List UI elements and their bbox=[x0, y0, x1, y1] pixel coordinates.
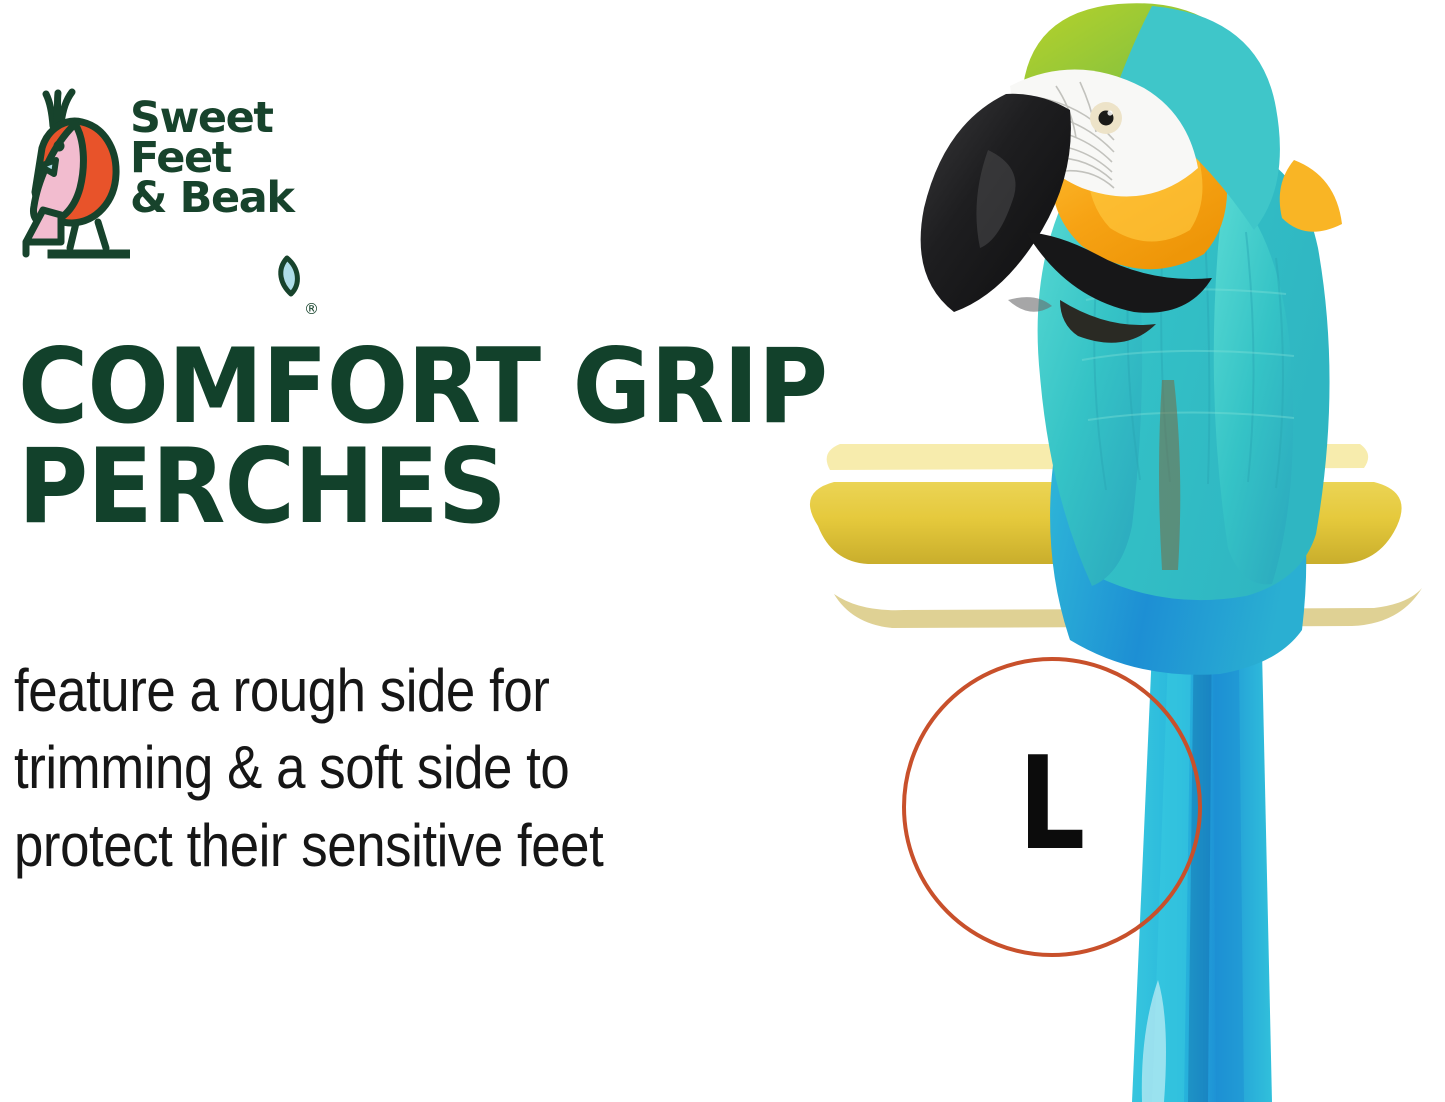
registered-trademark-symbol: ® bbox=[304, 300, 319, 318]
brand-logo: Sweet Feet & Beak ® bbox=[12, 82, 332, 267]
subcopy-line-1: feature a rough side for bbox=[14, 652, 718, 729]
size-badge: L bbox=[902, 657, 1202, 957]
wordmark-line-2: Feet bbox=[130, 138, 330, 178]
brand-wordmark: Sweet Feet & Beak bbox=[130, 98, 330, 218]
subcopy-line-2: trimming & a soft side to bbox=[14, 729, 718, 806]
size-badge-label: L bbox=[1019, 741, 1086, 869]
wordmark-line-1: Sweet bbox=[130, 98, 330, 138]
marketing-banner: Sweet Feet & Beak ® COMFORT GRIP PERCHES… bbox=[0, 0, 1445, 1102]
leaf-icon bbox=[270, 254, 304, 300]
sweet-feet-and-beak-bird-logo bbox=[12, 82, 130, 267]
wordmark-line-3: & Beak bbox=[130, 178, 330, 218]
subcopy-line-3: protect their sensitive feet bbox=[14, 807, 718, 884]
description-text: feature a rough side for trimming & a so… bbox=[14, 652, 718, 884]
